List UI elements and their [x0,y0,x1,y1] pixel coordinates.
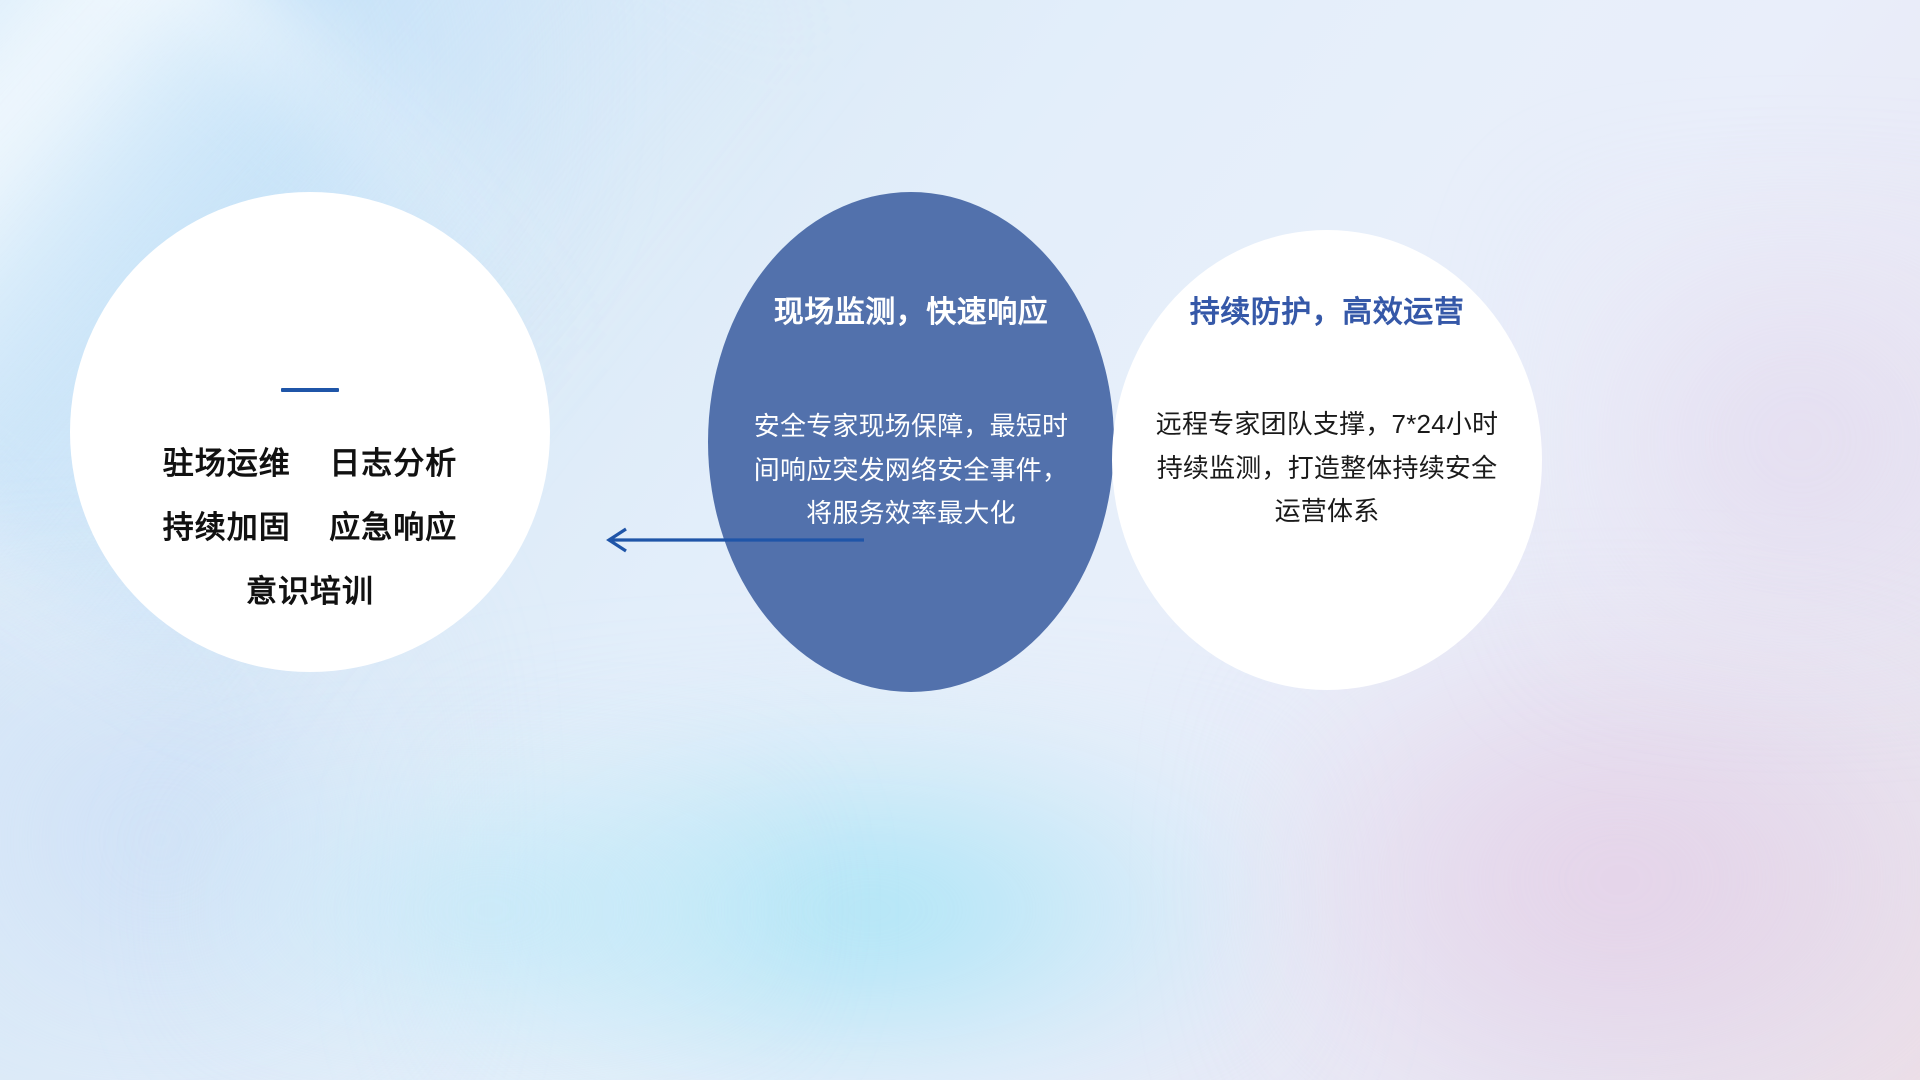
left-capability-line-1: 驻场运维 日志分析 [163,448,457,479]
slide-canvas: 驻场运维 日志分析 持续加固 应急响应 意识培训 现场监测，快速响应 安全专家现… [0,0,1920,1080]
background-glow-violet-top-right [1520,180,1920,700]
left-capability-line-2: 持续加固 应急响应 [163,512,457,543]
right-circle-body-text: 远程专家团队支撑，7*24小时持续监测，打造整体持续安全运营体系 [1152,403,1502,534]
divider-dash-icon [281,388,339,392]
middle-circle-content: 现场监测，快速响应 安全专家现场保障，最短时间响应突发网络安全事件，将服务效率最… [708,192,1114,692]
middle-circle-body-text: 安全专家现场保障，最短时间响应突发网络安全事件，将服务效率最大化 [752,405,1070,536]
right-circle-content: 持续防护，高效运营 远程专家团队支撑，7*24小时持续监测，打造整体持续安全运营… [1112,230,1542,690]
right-circle-title: 持续防护，高效运营 [1190,296,1465,329]
background-glow-cyan-secondary [180,760,800,1060]
left-capability-line-3: 意识培训 [246,576,374,607]
left-circle-content: 驻场运维 日志分析 持续加固 应急响应 意识培训 [70,192,550,672]
middle-circle-title: 现场监测，快速响应 [774,296,1049,329]
